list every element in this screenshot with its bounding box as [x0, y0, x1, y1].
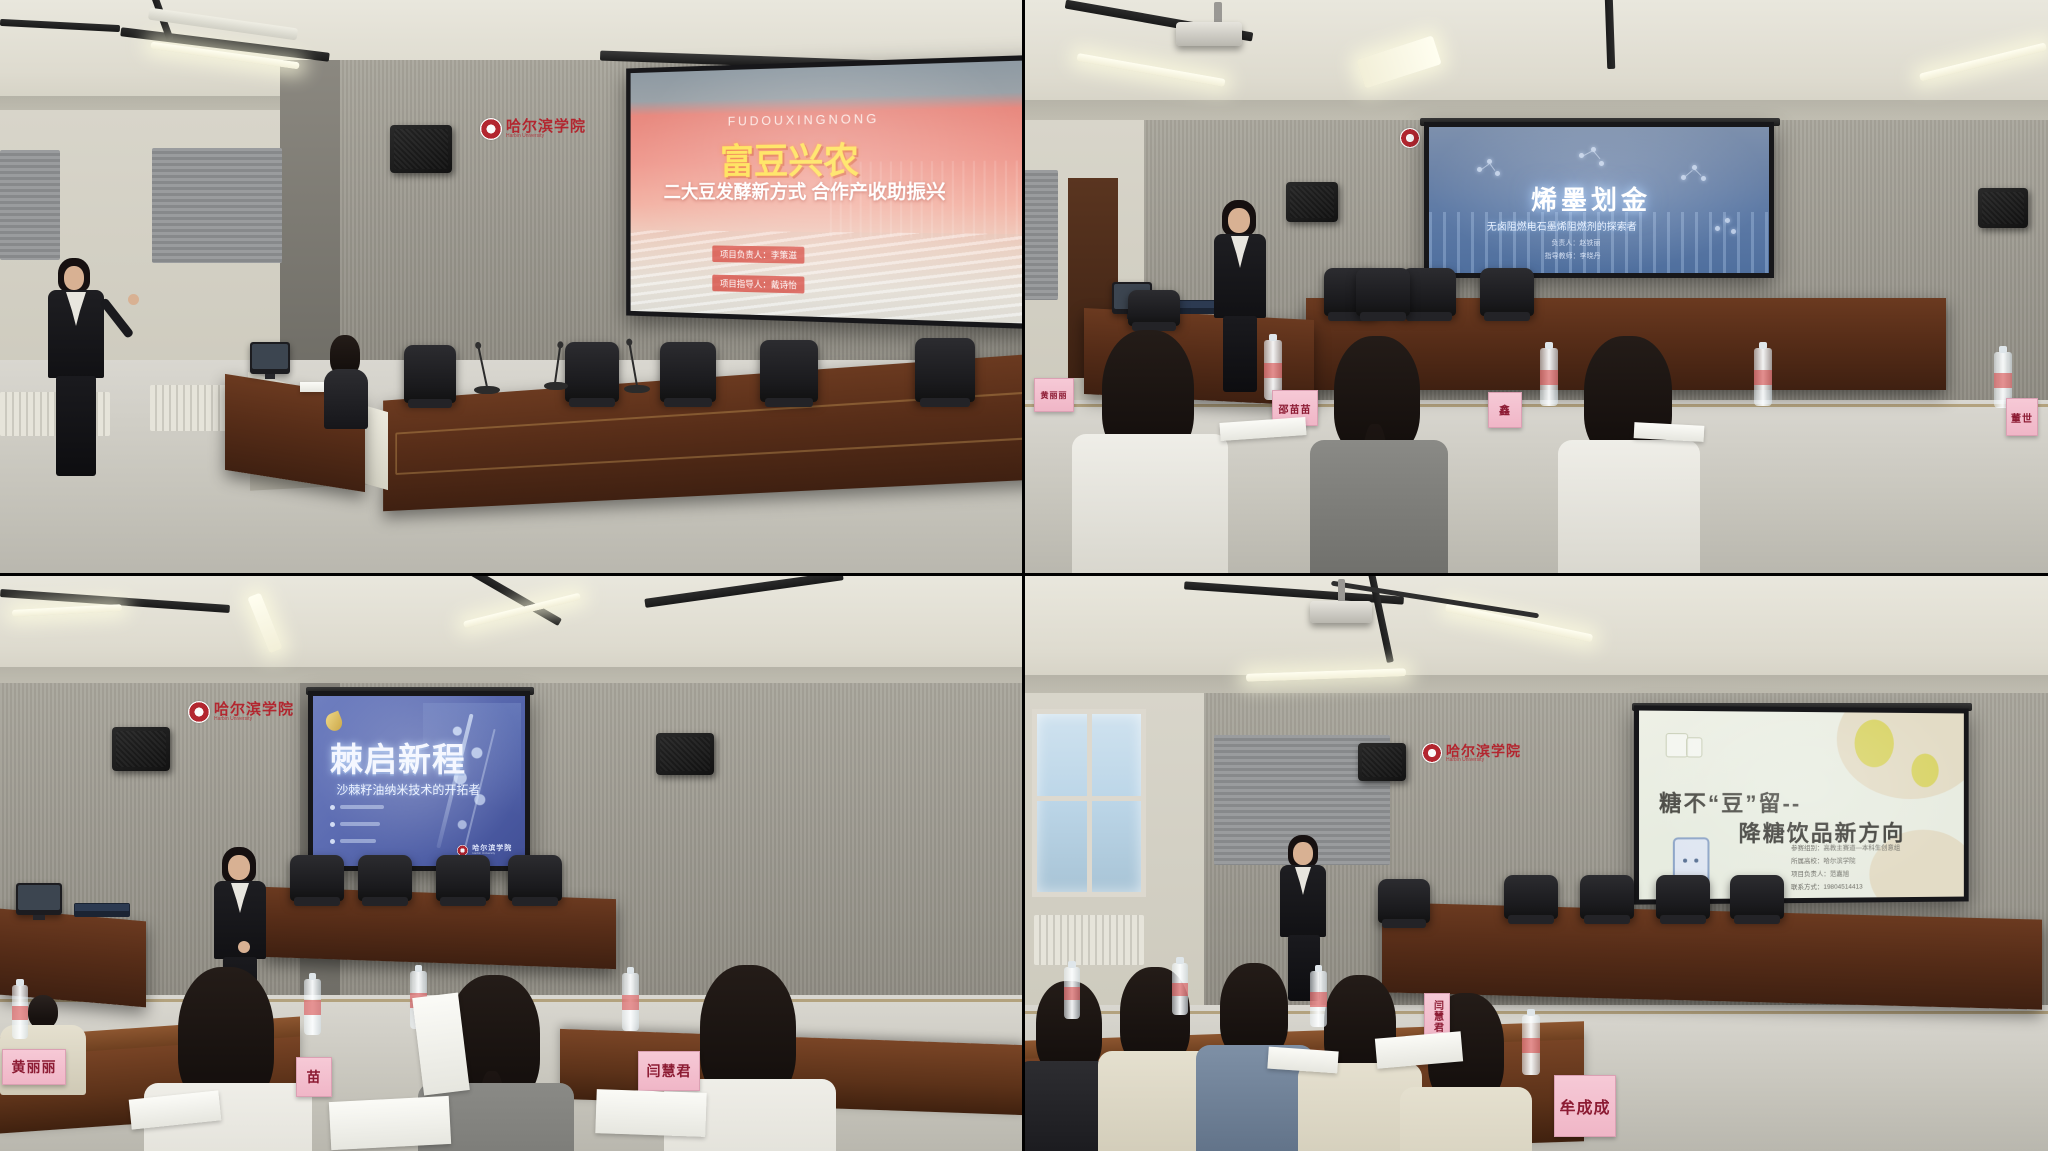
name-placard: 苗 [296, 1057, 332, 1097]
water-bottle [1754, 348, 1772, 406]
water-bottle [1310, 971, 1327, 1027]
wall-speaker [1978, 188, 2028, 228]
water-bottle [622, 973, 639, 1031]
slide-title: 烯墨划金 [1531, 180, 1651, 217]
slide-leaf-icon [323, 711, 345, 734]
slide-line-school: 所属高校：哈尔滨学院 [1791, 855, 1856, 865]
wall-speaker [1358, 743, 1406, 781]
chair [508, 855, 562, 901]
name-placard: 牟成成 [1554, 1075, 1616, 1137]
water-bottle [12, 985, 28, 1039]
slide-terrace-graphic [631, 230, 1024, 324]
university-seal-icon [480, 118, 502, 140]
name-placard-text: 黄丽丽 [1041, 390, 1068, 401]
slide-bullet [330, 822, 380, 827]
chair [1128, 290, 1180, 326]
chair [1656, 875, 1710, 919]
name-placard-text: 董世 [2011, 410, 2033, 425]
chair [915, 338, 975, 402]
name-placard-text: 闫慧君 [1430, 1000, 1445, 1033]
projection-screen: FUDOUXINGNONG 富豆兴农 二大豆发酵新方式 合作产收助振兴 项目负责… [626, 55, 1024, 329]
slide-subtitle: 二大豆发酵新方式 合作产收助振兴 [664, 177, 946, 205]
window-blind [1024, 170, 1058, 300]
slide-badge-advisor: 项目指导人：戴诗怡 [712, 275, 804, 294]
chair [660, 342, 716, 402]
slide-line-category: 参赛组别：高教主赛道—本科生创意组 [1791, 842, 1900, 852]
slide-seabuck: 棘启新程 沙棘籽油纳米技术的开拓者 [313, 696, 525, 866]
panel-bottom-right: 哈尔滨学院 Harbin University 糖不“豆”留-- [1024, 575, 2048, 1151]
chair [1504, 875, 1558, 919]
projector [1176, 22, 1242, 46]
name-placard-text: 闫慧君 [647, 1061, 692, 1081]
papers [595, 1089, 706, 1137]
slide-line-leader: 项目负责人：范嘉旭 [1791, 868, 1849, 878]
wall-logo-cn: 哈尔滨学院 [1446, 744, 1521, 758]
panel-top-left: 哈尔滨学院 Harbin University FUDOUXINGNONG 富豆… [0, 0, 1024, 575]
slide-line-contact: 联系方式：19804514413 [1791, 881, 1863, 892]
wall-logo: 哈尔滨学院 Harbin University [188, 701, 294, 723]
slide-icon-box [1666, 733, 1688, 757]
name-placard-text: 黄丽丽 [12, 1057, 57, 1077]
slide-graphene: 烯墨划金 无卤阻燃电石墨烯阻燃剂的探索者 负责人：赵铁丽 指导教师：李晓丹 [1429, 127, 1769, 273]
window-blind [152, 148, 282, 263]
laptop [74, 903, 130, 917]
slide-subtitle: 沙棘籽油纳米技术的开拓者 [336, 781, 480, 798]
projector-mount [1338, 579, 1345, 603]
name-placard-text: 牟成成 [1559, 1094, 1610, 1118]
slide-icon-box [1686, 737, 1702, 757]
panel-bottom-left: 哈尔滨学院 Harbin University 棘启新程 沙棘籽油纳米技术的开拓… [0, 575, 1024, 1151]
wall-speaker [112, 727, 170, 771]
chair [1580, 875, 1634, 919]
projector [1310, 601, 1372, 623]
chair [358, 855, 412, 901]
wall-speaker [1286, 182, 1338, 222]
wall-logo: 哈尔滨学院 Harbin University [480, 118, 586, 140]
projection-screen: 棘启新程 沙棘籽油纳米技术的开拓者 [308, 691, 530, 871]
monitor [16, 883, 62, 915]
name-placard: 董世 [2006, 398, 2038, 436]
slide-title: 棘启新程 [330, 733, 466, 781]
photo-collage: 哈尔滨学院 Harbin University FUDOUXINGNONG 富豆… [0, 0, 2048, 1151]
conference-desk [1382, 902, 2042, 1009]
chair [1730, 875, 1784, 919]
name-placard-text: 苗 [307, 1067, 322, 1087]
name-placard: 黄丽丽 [1034, 378, 1074, 412]
chair [1402, 268, 1456, 316]
slide-subtitle: 无卤阻燃电石墨烯阻燃剂的探索者 [1487, 218, 1637, 233]
panel-top-right: 哈尔滨学院 Harbin University [1024, 0, 2048, 575]
radiator [1034, 915, 1144, 965]
university-seal-icon [1400, 128, 1420, 148]
water-bottle [304, 979, 321, 1035]
name-placard: 鑫 [1488, 392, 1522, 428]
name-placard: 黄丽丽 [2, 1049, 66, 1085]
projector-mount [1214, 2, 1222, 24]
wall-logo-en: Harbin University [214, 717, 294, 722]
chair [1378, 879, 1430, 923]
microphone-base [544, 382, 568, 390]
chair [436, 855, 490, 901]
water-bottle [1540, 348, 1558, 406]
collage-divider-horizontal [0, 573, 2048, 576]
window-blind [0, 150, 60, 260]
water-bottle [1522, 1015, 1540, 1075]
chair [290, 855, 344, 901]
slide-blob [1911, 753, 1938, 787]
wall-logo-cn: 哈尔滨学院 [214, 702, 294, 717]
papers [329, 1096, 451, 1150]
slide-badge-leader: 项目负责人：李策滋 [712, 245, 804, 263]
monitor [250, 342, 290, 374]
slide-title-line1: 糖不“豆”留-- [1659, 786, 1801, 818]
wall-logo-cn: 哈尔滨学院 [506, 119, 586, 134]
wall-logo: 哈尔滨学院 Harbin University [1422, 743, 1521, 763]
chair [565, 342, 619, 402]
microphone-base [624, 385, 650, 393]
wall-logo-en: Harbin University [1446, 758, 1521, 763]
slide-line-leader: 负责人：赵铁丽 [1551, 238, 1600, 248]
slide-soy: FUDOUXINGNONG 富豆兴农 二大豆发酵新方式 合作产收助振兴 项目负责… [631, 60, 1024, 324]
projection-screen: 烯墨划金 无卤阻燃电石墨烯阻燃剂的探索者 负责人：赵铁丽 指导教师：李晓丹 [1424, 122, 1774, 278]
slide-pinyin: FUDOUXINGNONG [728, 111, 880, 129]
wall-speaker [390, 125, 452, 173]
name-placard-text: 邵苗苗 [1279, 401, 1312, 416]
name-placard-text: 鑫 [1499, 402, 1511, 418]
slide-blob [1836, 711, 1964, 799]
slide-sugar: 糖不“豆”留-- 降糖饮品新方向 参赛组别：高教主赛道—本科生创意组 所属高校：… [1639, 711, 1964, 900]
slide-line-advisor: 指导教师：李晓丹 [1545, 251, 1601, 261]
microphone-base [474, 386, 500, 394]
wall-logo-en: Harbin University [506, 134, 586, 139]
water-bottle [1064, 967, 1080, 1019]
name-placard: 闫慧君 [638, 1051, 700, 1091]
chair [404, 345, 456, 403]
wall-speaker [656, 733, 714, 775]
slide-bullet [330, 805, 384, 810]
chair [1480, 268, 1534, 316]
university-seal-icon [188, 701, 210, 723]
university-seal-icon [1422, 743, 1442, 763]
chair [1356, 268, 1410, 316]
water-bottle [1172, 963, 1188, 1015]
window [1032, 709, 1146, 897]
slide-bullet [330, 839, 376, 844]
chair [760, 340, 818, 402]
